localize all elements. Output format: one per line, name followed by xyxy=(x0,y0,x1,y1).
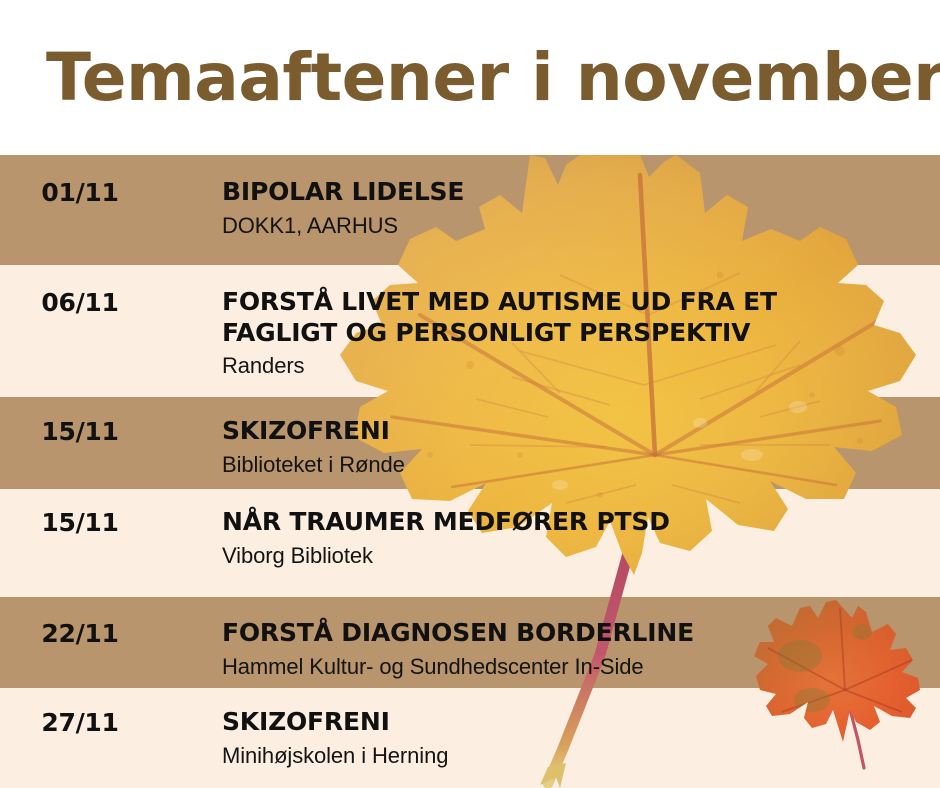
event-body: FORSTÅ DIAGNOSEN BORDERLINEHammel Kultur… xyxy=(160,618,940,680)
poster-canvas: Temaaftener i november 01/11BIPOLAR LIDE… xyxy=(0,0,940,788)
event-date: 15/11 xyxy=(0,416,160,446)
event-title: SKIZOFRENI xyxy=(222,707,940,738)
event-body: SKIZOFRENIMinihøjskolen i Herning xyxy=(160,707,940,769)
event-row[interactable]: 27/11SKIZOFRENIMinihøjskolen i Herning xyxy=(0,707,940,769)
event-row[interactable]: 15/11SKIZOFRENIBiblioteket i Rønde xyxy=(0,416,940,478)
event-date: 01/11 xyxy=(0,177,160,207)
event-date: 27/11 xyxy=(0,707,160,737)
event-venue: Minihøjskolen i Herning xyxy=(222,743,940,769)
event-row[interactable]: 15/11NÅR TRAUMER MEDFØRER PTSDViborg Bib… xyxy=(0,507,940,569)
event-row[interactable]: 06/11FORSTÅ LIVET MED AUTISME UD FRA ET … xyxy=(0,287,940,379)
event-body: NÅR TRAUMER MEDFØRER PTSDViborg Bibliote… xyxy=(160,507,940,569)
poster-header: Temaaftener i november xyxy=(0,0,940,155)
event-venue: Hammel Kultur- og Sundhedscenter In-Side xyxy=(222,654,940,680)
page-title: Temaaftener i november xyxy=(46,45,940,111)
event-venue: DOKK1, AARHUS xyxy=(222,213,940,239)
event-row[interactable]: 01/11BIPOLAR LIDELSEDOKK1, AARHUS xyxy=(0,177,940,239)
event-title: FORSTÅ LIVET MED AUTISME UD FRA ET FAGLI… xyxy=(222,287,940,348)
event-title: BIPOLAR LIDELSE xyxy=(222,177,940,208)
event-title: SKIZOFRENI xyxy=(222,416,940,447)
event-body: FORSTÅ LIVET MED AUTISME UD FRA ET FAGLI… xyxy=(160,287,940,379)
event-title: FORSTÅ DIAGNOSEN BORDERLINE xyxy=(222,618,940,649)
event-date: 06/11 xyxy=(0,287,160,317)
event-date: 22/11 xyxy=(0,618,160,648)
event-row[interactable]: 22/11FORSTÅ DIAGNOSEN BORDERLINEHammel K… xyxy=(0,618,940,680)
event-venue: Viborg Bibliotek xyxy=(222,543,940,569)
event-body: BIPOLAR LIDELSEDOKK1, AARHUS xyxy=(160,177,940,239)
event-body: SKIZOFRENIBiblioteket i Rønde xyxy=(160,416,940,478)
event-venue: Biblioteket i Rønde xyxy=(222,452,940,478)
event-date: 15/11 xyxy=(0,507,160,537)
event-title: NÅR TRAUMER MEDFØRER PTSD xyxy=(222,507,940,538)
event-venue: Randers xyxy=(222,353,940,379)
